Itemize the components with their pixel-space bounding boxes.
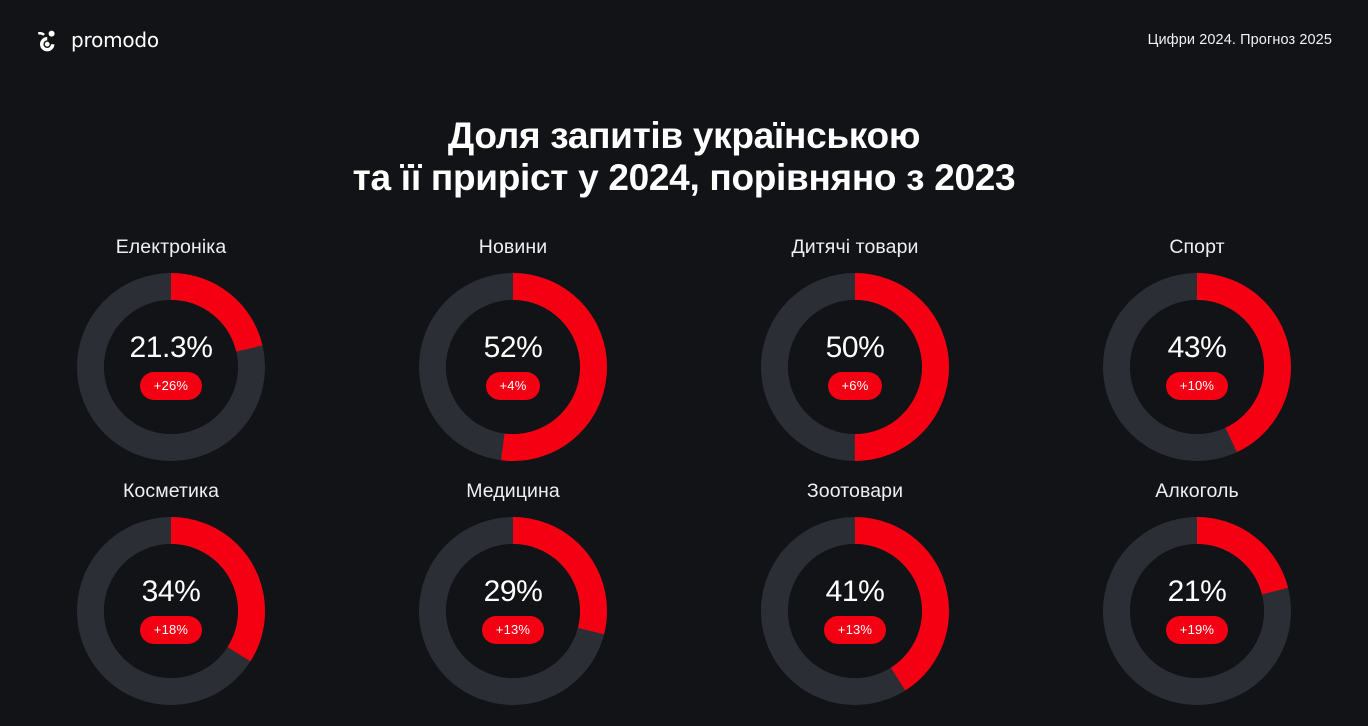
donut-chart: 41%+13% xyxy=(761,517,949,705)
donut-value: 41% xyxy=(826,577,885,607)
promodo-logo[interactable]: promodo xyxy=(34,27,159,53)
donut-center: 21%+19% xyxy=(1130,544,1264,678)
donut-center: 50%+6% xyxy=(788,300,922,434)
donut-category-label: Електроніка xyxy=(116,238,227,258)
donut-cell: Новини52%+4% xyxy=(342,238,684,482)
growth-badge: +10% xyxy=(1166,372,1228,400)
donut-center: 43%+10% xyxy=(1130,300,1264,434)
donut-category-label: Косметика xyxy=(123,482,219,502)
donut-cell: Косметика34%+18% xyxy=(0,482,342,726)
donut-cell: Спорт43%+10% xyxy=(1026,238,1368,482)
growth-badge: +13% xyxy=(482,616,544,644)
promodo-mark-icon xyxy=(34,27,60,53)
donut-cell: Електроніка21.3%+26% xyxy=(0,238,342,482)
donut-cell: Медицина29%+13% xyxy=(342,482,684,726)
page-title: Доля запитів українською та її приріст у… xyxy=(0,115,1368,199)
donut-category-label: Медицина xyxy=(466,482,560,502)
donut-chart: 29%+13% xyxy=(419,517,607,705)
donut-category-label: Зоотовари xyxy=(807,482,903,502)
donut-chart: 34%+18% xyxy=(77,517,265,705)
donut-cell: Дитячі товари50%+6% xyxy=(684,238,1026,482)
donut-category-label: Спорт xyxy=(1169,238,1224,258)
donut-value: 21.3% xyxy=(129,333,212,363)
donut-value: 43% xyxy=(1168,333,1227,363)
donut-value: 34% xyxy=(142,577,201,607)
donut-value: 29% xyxy=(484,577,543,607)
growth-badge: +19% xyxy=(1166,616,1228,644)
donut-grid: Електроніка21.3%+26%Новини52%+4%Дитячі т… xyxy=(0,238,1368,726)
donut-center: 52%+4% xyxy=(446,300,580,434)
donut-center: 29%+13% xyxy=(446,544,580,678)
donut-chart: 50%+6% xyxy=(761,273,949,461)
page-title-line-1: Доля запитів українською xyxy=(0,115,1368,157)
growth-badge: +6% xyxy=(828,372,883,400)
growth-badge: +26% xyxy=(140,372,202,400)
growth-badge: +18% xyxy=(140,616,202,644)
donut-category-label: Новини xyxy=(479,238,547,258)
donut-center: 21.3%+26% xyxy=(104,300,238,434)
logo-wordmark: promodo xyxy=(71,30,159,50)
growth-badge: +4% xyxy=(486,372,541,400)
growth-badge: +13% xyxy=(824,616,886,644)
donut-value: 52% xyxy=(484,333,543,363)
page-header: promodo Цифри 2024. Прогноз 2025 xyxy=(0,0,1368,80)
donut-chart: 43%+10% xyxy=(1103,273,1291,461)
donut-value: 50% xyxy=(826,333,885,363)
page-title-line-2: та її приріст у 2024, порівняно з 2023 xyxy=(0,157,1368,199)
donut-category-label: Дитячі товари xyxy=(791,238,918,258)
donut-center: 34%+18% xyxy=(104,544,238,678)
donut-category-label: Алкоголь xyxy=(1155,482,1238,502)
header-note: Цифри 2024. Прогноз 2025 xyxy=(1148,32,1332,48)
donut-center: 41%+13% xyxy=(788,544,922,678)
donut-chart: 52%+4% xyxy=(419,273,607,461)
donut-value: 21% xyxy=(1168,577,1227,607)
donut-cell: Алкоголь21%+19% xyxy=(1026,482,1368,726)
donut-chart: 21.3%+26% xyxy=(77,273,265,461)
donut-chart: 21%+19% xyxy=(1103,517,1291,705)
donut-cell: Зоотовари41%+13% xyxy=(684,482,1026,726)
